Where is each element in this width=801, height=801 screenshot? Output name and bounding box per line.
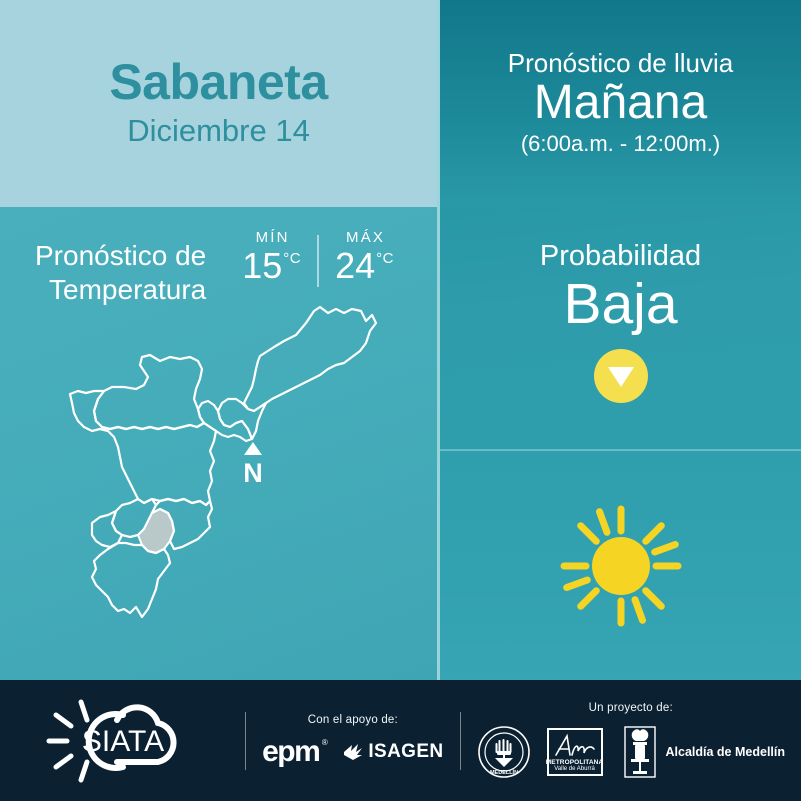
temperature-min-reading: 15 °C [242,247,301,285]
map-municipality-caldas [92,543,170,617]
epm-logo-text: epm [262,735,319,768]
siata-wordmark: SIATA [81,725,163,758]
project-logos-group: Un proyecto de: [461,702,801,779]
epm-logo: epm ® [262,737,326,767]
support-caption: Con el apoyo de: [308,714,398,726]
aburra-valley-map: N [52,299,402,659]
temperature-max-unit: °C [376,247,394,267]
probability-value: Baja [563,273,677,336]
area-metropolitana-logo: METROPOLITANA Valle de Aburrá [547,728,603,777]
area-metropolitana-box: METROPOLITANA Valle de Aburrá [547,728,603,777]
temperature-max: MÁX 24 °C [321,229,408,287]
map-municipality-bello [94,355,204,429]
medellin-seal-logo: MEDELLÍN [477,725,531,779]
temperature-label: Pronóstico de Temperatura [35,229,206,307]
rain-forecast-period: Mañana [534,77,707,129]
rain-forecast-kicker: Pronóstico de lluvia [508,49,733,79]
compass-north-icon: N [243,442,263,488]
area-metropolitana-sub2: Valle de Aburrá [554,766,595,773]
weather-icon-panel [440,451,801,680]
temperature-min: MÍN 15 °C [228,229,315,287]
area-signature-icon [553,733,597,759]
siata-brand: SIATA [0,698,245,784]
epm-logo-mark: ® [322,739,326,747]
city-header-panel: Sabaneta Diciembre 14 [0,0,437,207]
rain-forecast-hours: (6:00a.m. - 12:00m.) [521,130,720,159]
temperature-min-value: 15 [242,247,282,285]
forecast-date: Diciembre 14 [127,111,310,151]
probability-kicker: Probabilidad [540,239,701,274]
isagen-logo-text: ISAGEN [368,741,443,763]
vertical-divider [437,0,440,680]
map-municipality-girardota [218,399,266,439]
map-municipality-barbosa [244,307,376,411]
support-logos: epm ® ISAGEN [262,737,443,767]
footer-bar: SIATA Con el apoyo de: epm ® ISAGEN [0,680,801,801]
compass-label: N [243,458,263,488]
temperature-values: MÍN 15 °C MÁX 24 °C [228,229,408,287]
sun-icon [546,491,696,641]
temperature-summary: Pronóstico de Temperatura MÍN 15 °C MÁX … [0,229,437,307]
sun-cloud-icon: SIATA [45,698,201,784]
project-logos: MEDELLÍN METROPOLITANA Valle de Aburrá [477,725,785,779]
temperature-panel: Pronóstico de Temperatura MÍN 15 °C MÁX … [0,207,437,680]
map-municipality-copacabana [198,401,252,441]
triangle-down-icon [594,349,648,403]
temperature-max-value: 24 [335,247,375,285]
area-metropolitana-sub1: METROPOLITANA [546,759,604,766]
project-caption: Un proyecto de: [589,702,673,714]
medellin-seal-text: MEDELLÍN [489,768,517,776]
medellin-seal-icon: MEDELLÍN [477,725,531,779]
isagen-logo: ISAGEN [342,741,443,763]
probability-panel: Probabilidad Baja [440,207,801,450]
triangle-down-glyph [608,367,634,387]
weather-forecast-poster: Sabaneta Diciembre 14 Pronóstico de lluv… [0,0,801,801]
alcaldia-medellin-logo: Alcaldía de Medellín [619,725,785,779]
support-logos-group: Con el apoyo de: epm ® ISAGEN [246,714,459,767]
page-title: Sabaneta [109,56,327,109]
temperature-max-reading: 24 °C [335,247,394,285]
alcaldia-medellin-text: Alcaldía de Medellín [666,745,785,759]
isagen-mark-icon [342,742,364,762]
alcaldia-shield-icon [619,725,661,779]
map-municipality-medellin [70,391,216,505]
rain-forecast-header-panel: Pronóstico de lluvia Mañana (6:00a.m. - … [440,0,801,207]
map-municipality-la-estrella [92,511,122,547]
temperature-min-unit: °C [283,247,301,267]
temperature-divider [317,235,319,287]
right-horizontal-divider [440,449,801,451]
